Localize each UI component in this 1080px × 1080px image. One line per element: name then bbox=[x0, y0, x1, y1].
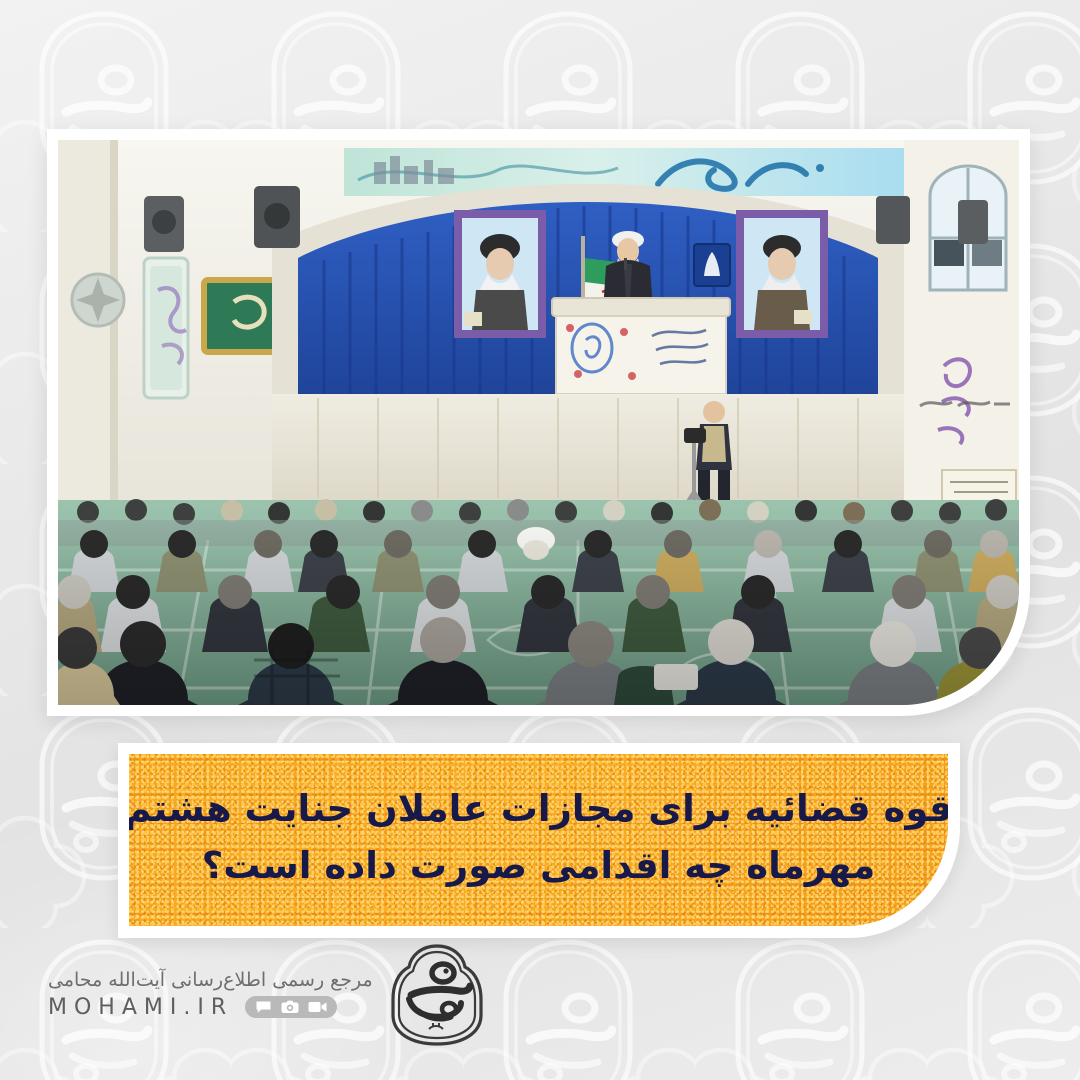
message-icon[interactable] bbox=[255, 1000, 272, 1014]
title-banner-fill: قوه قضائیه برای مجازات عاملان جنایت هشتم… bbox=[129, 754, 948, 926]
title-line-2: مهرماه چه اقدامی صورت داده است؟ bbox=[202, 840, 875, 893]
brand-text-block: مرجع رسمی اطلاع‌رسانی آیت‌الله محامی MOH… bbox=[48, 968, 373, 1022]
brand-domain-row: MOHAMI.IR bbox=[48, 995, 337, 1020]
portrait-right bbox=[736, 210, 828, 338]
brand-domain: MOHAMI.IR bbox=[48, 995, 233, 1020]
camera-icon[interactable] bbox=[281, 1000, 299, 1014]
mohami-monogram-logo-icon bbox=[391, 943, 483, 1047]
brand-tagline: مرجع رسمی اطلاع‌رسانی آیت‌الله محامی bbox=[48, 968, 373, 993]
title-banner: قوه قضائیه برای مجازات عاملان جنایت هشتم… bbox=[118, 743, 960, 938]
title-line-1: قوه قضائیه برای مجازات عاملان جنایت هشتم bbox=[129, 783, 948, 836]
portrait-left bbox=[454, 210, 546, 338]
poster-canvas: قوه قضائیه برای مجازات عاملان جنایت هشتم… bbox=[0, 0, 1080, 1080]
mosque-scene-illustration bbox=[58, 140, 1019, 705]
video-camera-icon[interactable] bbox=[308, 1000, 327, 1014]
brand-footer: مرجع رسمی اطلاع‌رسانی آیت‌الله محامی MOH… bbox=[48, 943, 483, 1047]
photo-card bbox=[47, 129, 1030, 716]
photo-image bbox=[58, 140, 1019, 705]
social-links-pill[interactable] bbox=[245, 996, 337, 1018]
